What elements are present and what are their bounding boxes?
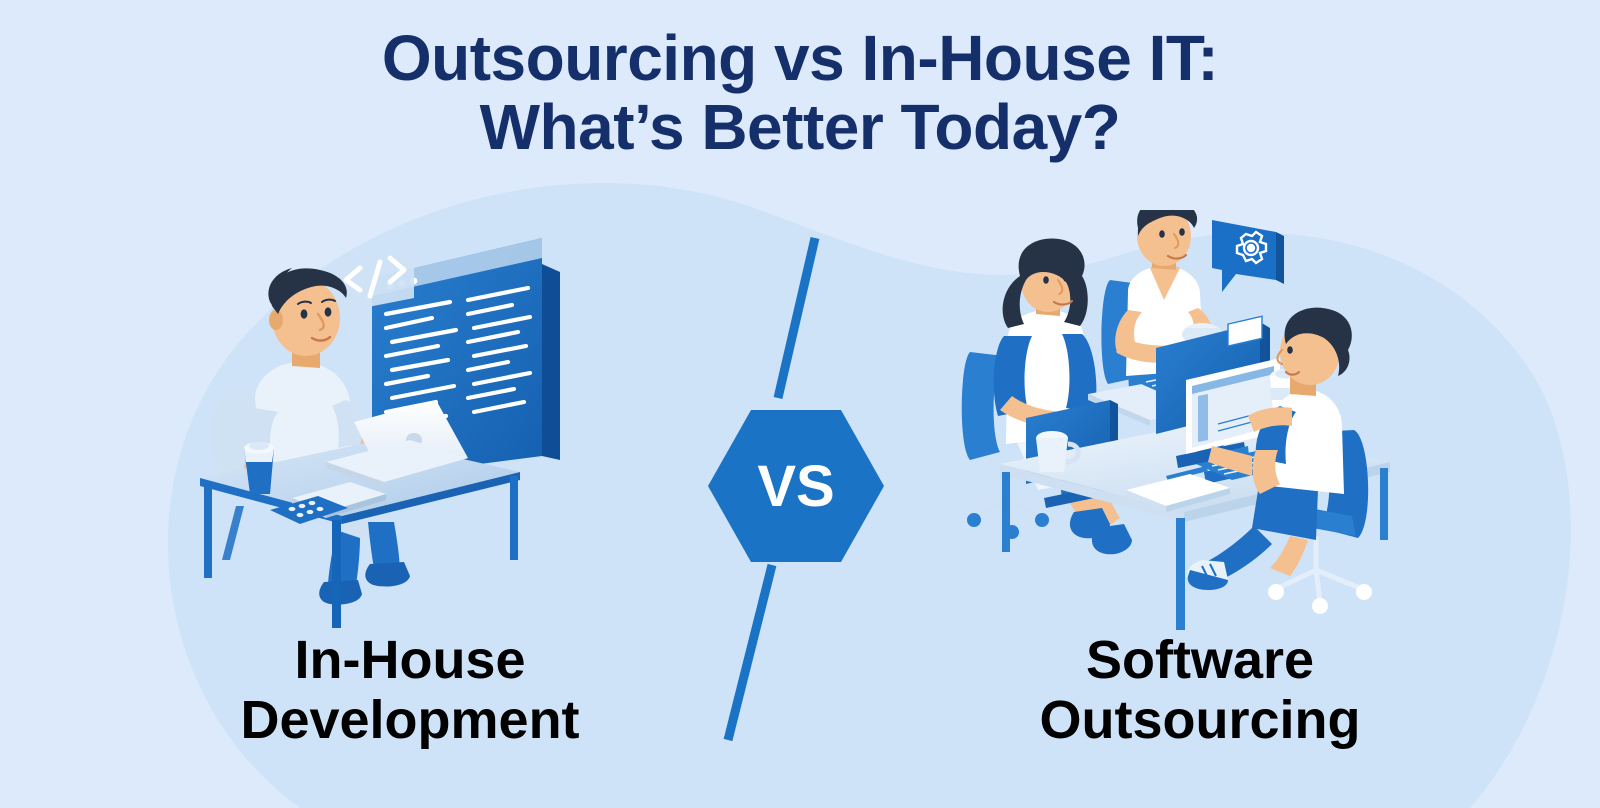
divider-line-bottom bbox=[728, 565, 772, 740]
poster-canvas: Outsourcing vs In-House IT: What’s Bette… bbox=[0, 0, 1600, 808]
page-title: Outsourcing vs In-House IT: What’s Bette… bbox=[0, 24, 1600, 162]
right-option-label: Software Outsourcing bbox=[940, 630, 1460, 751]
left-option-label: In-House Development bbox=[150, 630, 670, 751]
vs-label: VS bbox=[706, 404, 886, 568]
divider-line-top bbox=[778, 238, 815, 398]
